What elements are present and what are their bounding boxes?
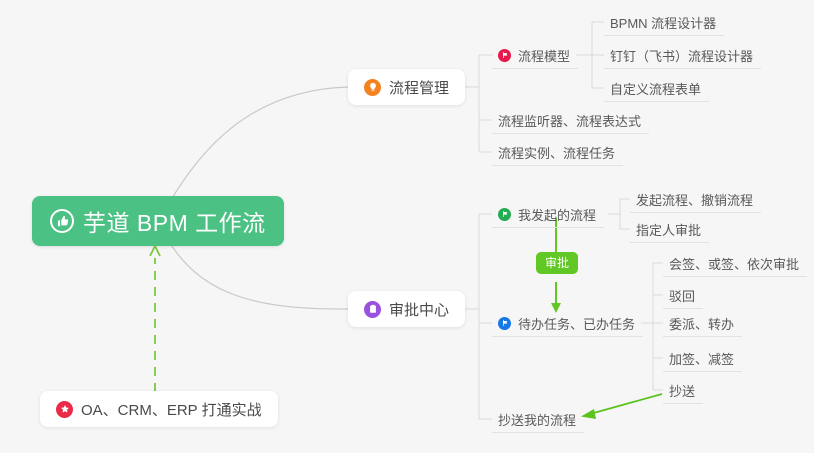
node-label: 抄送我的流程 xyxy=(498,410,576,429)
node-my-initiated-process[interactable]: 我发起的流程 xyxy=(492,201,604,228)
node-label: 流程管理 xyxy=(389,77,449,98)
note-card-oa-crm-erp[interactable]: OA、CRM、ERP 打通实战 xyxy=(40,391,278,427)
flag-icon xyxy=(498,49,511,62)
node-label: 指定人审批 xyxy=(636,220,701,239)
node-label: 委派、转办 xyxy=(669,314,734,333)
node-process-management[interactable]: 流程管理 xyxy=(348,69,465,105)
node-cc-to-me-process[interactable]: 抄送我的流程 xyxy=(492,406,584,433)
node-label: 驳回 xyxy=(669,286,695,305)
node-add-remove-sign[interactable]: 加签、减签 xyxy=(663,345,742,372)
node-label: 待办任务、已办任务 xyxy=(518,314,635,333)
node-approval-center[interactable]: 审批中心 xyxy=(348,291,465,327)
node-todo-done-tasks[interactable]: 待办任务、已办任务 xyxy=(492,310,643,337)
node-bpmn-designer[interactable]: BPMN 流程设计器 xyxy=(604,9,724,36)
approval-badge: 审批 xyxy=(536,252,578,274)
mindmap-canvas: 芋道 BPM 工作流 流程管理 流程模型 BPMN 流程设计器 钉钉（飞书）流程… xyxy=(0,0,814,453)
node-label: 发起流程、撤销流程 xyxy=(636,190,753,209)
node-label: BPMN 流程设计器 xyxy=(610,13,716,32)
link-root-to-process-management xyxy=(168,87,348,205)
flag-icon xyxy=(498,208,511,221)
node-label: 自定义流程表单 xyxy=(610,79,701,98)
node-countersign-orsign-sequential[interactable]: 会签、或签、依次审批 xyxy=(663,250,807,277)
flag-icon xyxy=(498,317,511,330)
node-delegate-transfer[interactable]: 委派、转办 xyxy=(663,310,742,337)
star-icon xyxy=(56,401,73,418)
node-custom-process-form[interactable]: 自定义流程表单 xyxy=(604,75,709,102)
note-label: OA、CRM、ERP 打通实战 xyxy=(81,399,262,420)
node-cc[interactable]: 抄送 xyxy=(663,377,703,404)
root-label: 芋道 BPM 工作流 xyxy=(83,204,266,238)
note-link-arrow xyxy=(150,246,160,392)
lightbulb-icon xyxy=(364,79,381,96)
node-label: 流程模型 xyxy=(518,46,570,65)
node-start-cancel-process[interactable]: 发起流程、撤销流程 xyxy=(630,186,761,213)
root-node[interactable]: 芋道 BPM 工作流 xyxy=(32,196,284,246)
node-assignee-approval[interactable]: 指定人审批 xyxy=(630,216,709,243)
node-label: 抄送 xyxy=(669,381,695,400)
node-dingtalk-feishu-designer[interactable]: 钉钉（飞书）流程设计器 xyxy=(604,42,761,69)
node-process-model[interactable]: 流程模型 xyxy=(492,42,578,69)
clipboard-icon xyxy=(364,301,381,318)
node-process-listener-expression[interactable]: 流程监听器、流程表达式 xyxy=(492,107,649,134)
node-process-instance-task[interactable]: 流程实例、流程任务 xyxy=(492,139,623,166)
node-label: 我发起的流程 xyxy=(518,205,596,224)
cc-link-arrow xyxy=(581,394,662,419)
node-reject[interactable]: 驳回 xyxy=(663,282,703,309)
link-root-to-approval-center xyxy=(168,240,348,309)
node-label: 流程监听器、流程表达式 xyxy=(498,111,641,130)
node-label: 会签、或签、依次审批 xyxy=(669,254,799,273)
node-label: 流程实例、流程任务 xyxy=(498,143,615,162)
node-label: 加签、减签 xyxy=(669,349,734,368)
node-label: 审批中心 xyxy=(389,299,449,320)
node-label: 钉钉（飞书）流程设计器 xyxy=(610,46,753,65)
thumbs-up-icon xyxy=(50,209,74,233)
